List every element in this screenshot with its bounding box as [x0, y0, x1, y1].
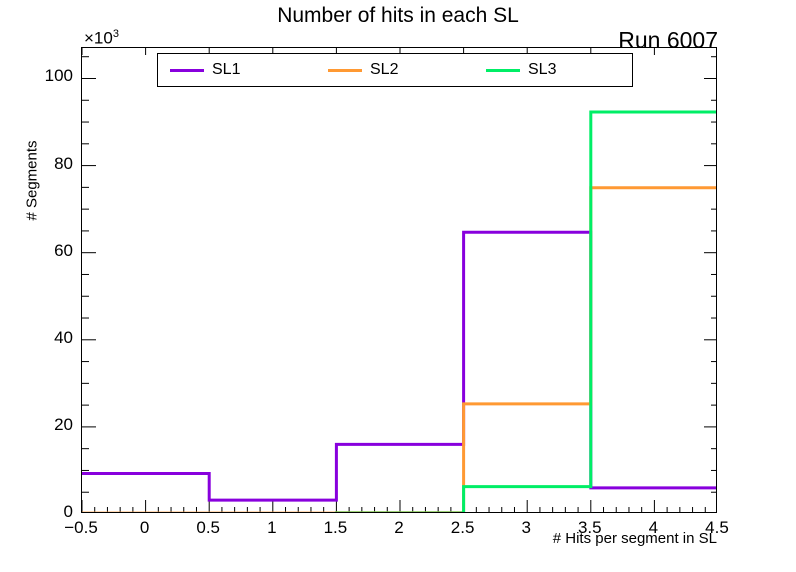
x-axis-tick-label: 1 [242, 518, 302, 538]
legend-swatch-icon [170, 69, 204, 72]
y-axis-exponent-power: 3 [113, 28, 119, 40]
legend-item-sl3[interactable]: SL3 [486, 54, 556, 86]
x-axis-tick-label: 4.5 [687, 518, 747, 538]
x-axis-tick-label: 2 [369, 518, 429, 538]
y-axis-tick-label: 40 [13, 328, 73, 348]
x-axis-tick-label: 4 [623, 518, 683, 538]
x-axis-tick-label: −0.5 [51, 518, 111, 538]
legend-item-sl2[interactable]: SL2 [328, 54, 398, 86]
x-axis-tick-label: 0.5 [178, 518, 238, 538]
y-axis-tick-label: 100 [13, 66, 73, 86]
legend-label: SL2 [370, 61, 398, 79]
x-axis-tick-label: 0 [115, 518, 175, 538]
y-axis-tick-label: 80 [13, 154, 73, 174]
y-axis-exponent-base: ×10 [84, 29, 113, 48]
legend-label: SL1 [212, 61, 240, 79]
y-axis-title: # Segments [24, 101, 41, 261]
x-axis-tick-label: 3.5 [560, 518, 620, 538]
y-axis-tick-label: 20 [13, 415, 73, 435]
chart-canvas: Number of hits in each SL Run 6007 ×103 … [0, 0, 796, 572]
x-axis-tick-label: 1.5 [305, 518, 365, 538]
legend: SL1SL2SL3 [157, 53, 633, 87]
x-axis-tick-label: 2.5 [433, 518, 493, 538]
legend-label: SL3 [528, 61, 556, 79]
legend-item-sl1[interactable]: SL1 [170, 54, 240, 86]
x-axis-tick-label: 3 [496, 518, 556, 538]
histogram-svg [82, 48, 717, 513]
page-title: Number of hits in each SL [0, 4, 796, 28]
plot-area [81, 47, 717, 513]
y-axis-tick-label: 60 [13, 241, 73, 261]
legend-swatch-icon [328, 69, 362, 72]
legend-swatch-icon [486, 69, 520, 72]
y-axis-exponent: ×103 [84, 28, 119, 49]
